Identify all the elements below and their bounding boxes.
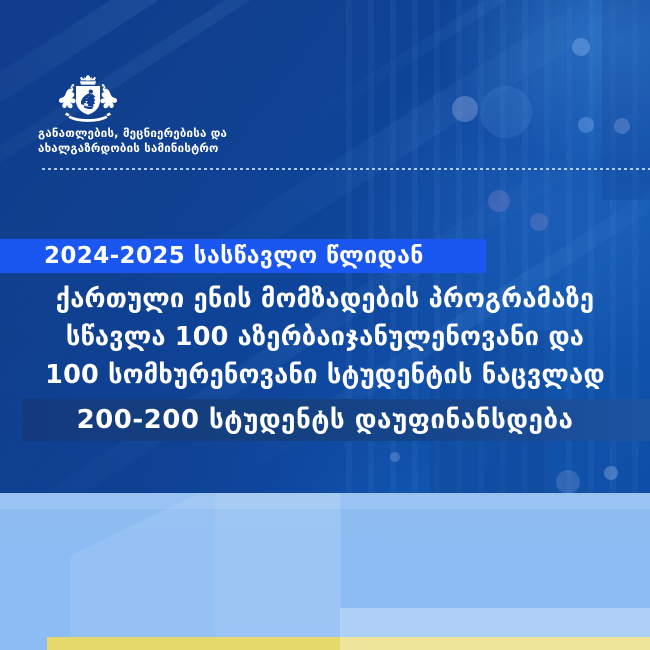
accent-bar-right xyxy=(340,637,650,650)
georgian-coat-of-arms-icon xyxy=(40,74,136,122)
poster-root: განათლების, მეცნიერებისა და ახალგაზრდობი… xyxy=(0,0,650,650)
bottom-shape xyxy=(215,493,341,650)
header-divider xyxy=(42,168,650,170)
bottom-background-panel xyxy=(0,493,650,650)
headline-line-2: სწავლა 100 აზერბაიჯანულენოვანი და xyxy=(0,318,650,356)
accent-bar-left xyxy=(47,637,340,650)
headline-line-1: ქართული ენის მომზადების პროგრამაზე xyxy=(0,280,650,318)
kicker-label: 2024-2025 სასწავლო წლიდან xyxy=(44,239,474,273)
emphasis-label: 200-200 სტუდენტს დაუფინანსდება xyxy=(0,399,650,441)
headline-line-3: 100 სომხურენოვანი სტუდენტის ნაცვლად xyxy=(0,356,650,394)
headline-body: ქართული ენის მომზადების პროგრამაზე სწავლ… xyxy=(0,280,650,394)
ministry-name-label: განათლების, მეცნიერებისა და ახალგაზრდობი… xyxy=(38,126,458,156)
